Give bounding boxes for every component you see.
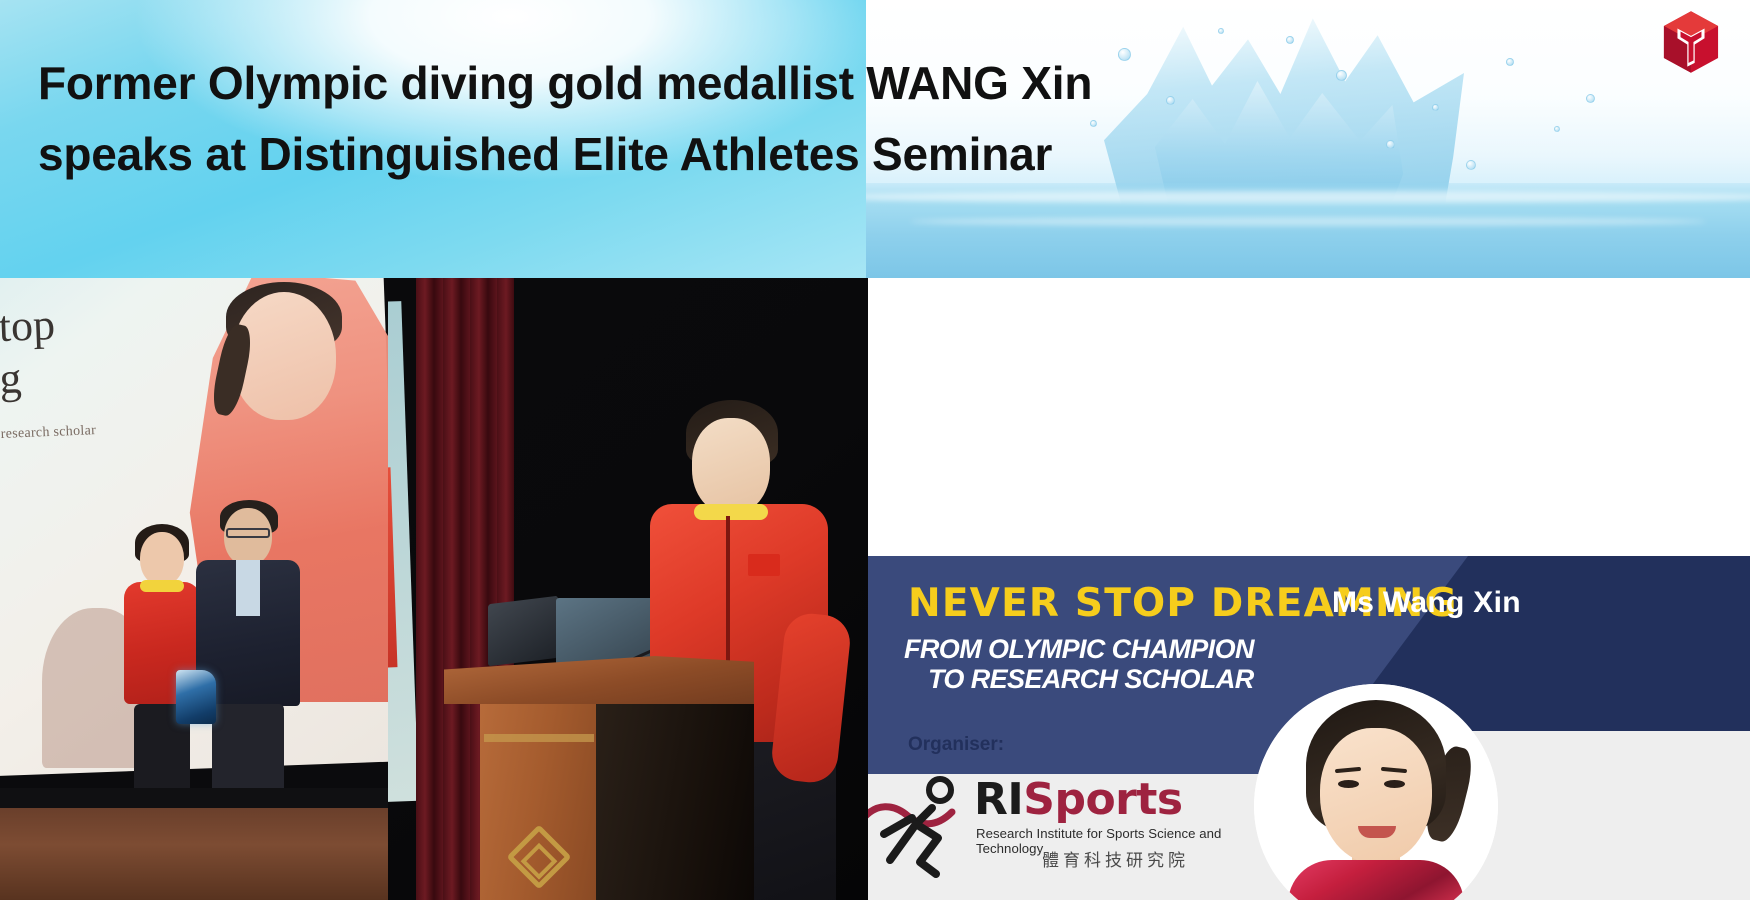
speaker-collar (694, 504, 768, 520)
glasses-icon (226, 528, 270, 538)
podium-top (444, 656, 754, 704)
athlete-head (140, 532, 184, 586)
headshot-face (1320, 728, 1432, 864)
polyu-cube-logo[interactable] (1660, 10, 1722, 74)
risports-subtitle-chinese: 體育科技研究院 (1042, 846, 1189, 871)
seminar-news-banner: Former Olympic diving gold medallist WAN… (0, 0, 1750, 900)
water-drop (1506, 58, 1514, 66)
athlete-collar (140, 580, 184, 592)
photo-award-presentation: er Stop ming champion to research schola… (0, 278, 388, 900)
event-poster: NEVER STOP DREAMING FROM OLYMPIC CHAMPIO… (868, 556, 1750, 900)
water-drop (1286, 36, 1294, 44)
content-panels: er Stop ming champion to research schola… (0, 278, 1750, 900)
poster-subline-2: TO RESEARCH SCHOLAR (928, 664, 1254, 695)
water-drop (1466, 160, 1476, 170)
water-drop (1432, 104, 1439, 111)
page-title-line-1: Former Olympic diving gold medallist WAN… (38, 48, 1318, 119)
water-drop (1218, 28, 1224, 34)
water-drop (1336, 70, 1347, 81)
headshot-jacket (1288, 860, 1464, 900)
china-flag-badge (748, 554, 780, 576)
podium-side (596, 704, 754, 900)
water-drop (1386, 140, 1395, 149)
running-figure-icon (868, 768, 974, 878)
official-shirt (236, 560, 260, 616)
water-surface (866, 183, 1750, 278)
speaker-headshot-avatar (1254, 684, 1498, 900)
page-title: Former Olympic diving gold medallist WAN… (38, 48, 1318, 191)
headshot-eye-left (1338, 780, 1359, 788)
page-header: Former Olympic diving gold medallist WAN… (0, 0, 1750, 278)
podium-trim (484, 734, 594, 742)
poster-subline-1: FROM OLYMPIC CHAMPION (904, 634, 1254, 665)
stage-floor (0, 808, 388, 900)
poster-speaker-name: Ms Wang Xin (1332, 586, 1521, 620)
headshot-mouth (1358, 826, 1396, 838)
speaker-head (692, 418, 770, 514)
page-title-line-2: speaks at Distinguished Elite Athletes S… (38, 119, 1318, 190)
wooden-podium (444, 656, 754, 900)
risports-sports: Sports (1023, 774, 1182, 825)
risports-wordmark: RISports (974, 774, 1183, 825)
water-drop (1586, 94, 1595, 103)
stage-edge (0, 788, 388, 808)
photo-speaker-at-podium (388, 278, 868, 900)
risports-logo: RISports Research Institute for Sports S… (868, 764, 1274, 884)
risports-ri: RI (974, 774, 1023, 825)
slide-title: er Stop ming (0, 292, 232, 407)
water-drop (1554, 126, 1560, 132)
organiser-label: Organiser: (908, 734, 1004, 756)
headshot-eye-right (1384, 780, 1405, 788)
award-trophy (176, 670, 216, 724)
